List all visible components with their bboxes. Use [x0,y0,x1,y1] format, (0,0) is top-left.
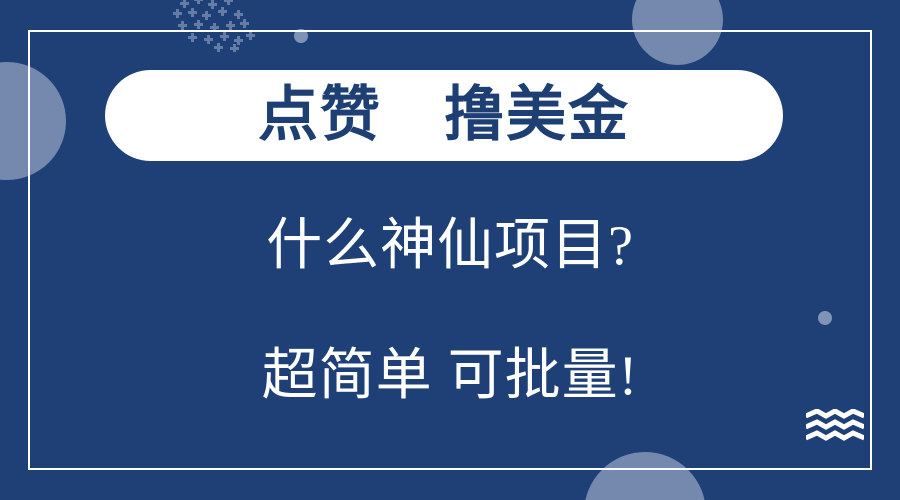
subline-question: 什么神仙项目? [0,218,900,274]
headline-pill: 点赞 撸美金 [105,70,783,161]
subline-benefit: 超简单 可批量! [0,348,900,404]
poster-content: 点赞 撸美金 什么神仙项目? 超简单 可批量! [0,0,900,500]
headline-text: 点赞 撸美金 [258,85,630,145]
poster-canvas: 点赞 撸美金 什么神仙项目? 超简单 可批量! [0,0,900,500]
